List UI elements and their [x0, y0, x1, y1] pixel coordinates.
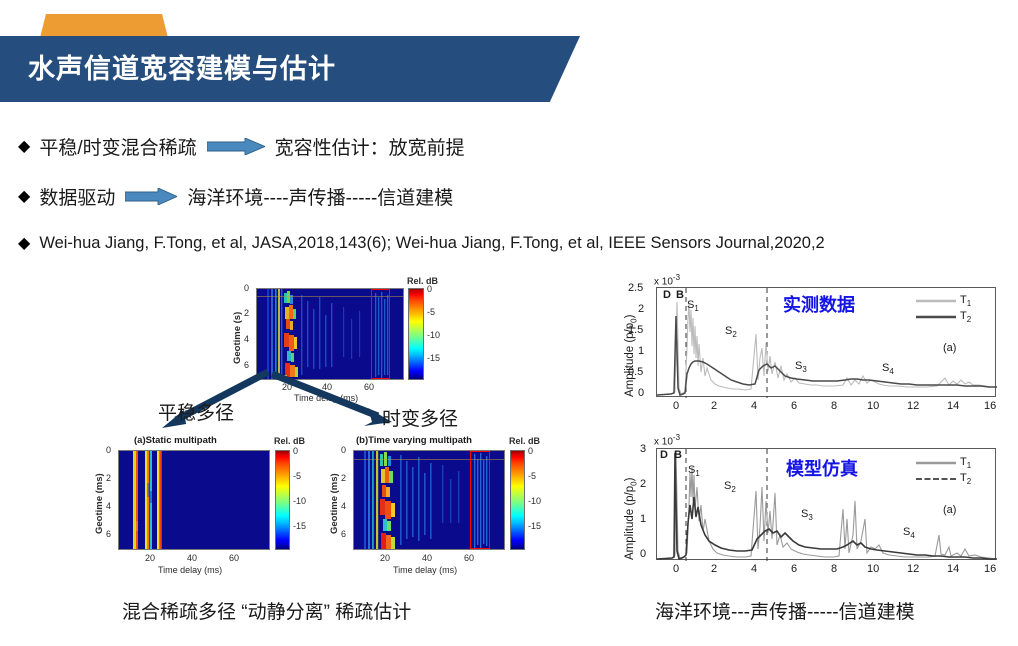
line-measured-ytick-1: 1 [638, 345, 644, 357]
heatmap-tv-xtick-60: 60 [464, 553, 474, 563]
bullet-diamond-icon: ◆ [18, 139, 30, 155]
figure-heatmap-static: (a)Static multipath [78, 434, 314, 584]
line-measured-panel-tag: (a) [943, 342, 956, 354]
heatmap-top-colorbar [408, 288, 424, 380]
line-measured-legend-T1: T1 [960, 294, 971, 308]
line-measured-ytick-2p5: 2.5 [628, 282, 643, 294]
line-measured-peak-D: D [663, 289, 671, 301]
heatmap-static-xtick-40: 40 [187, 553, 197, 563]
line-simulated-peak-S3: S3 [801, 508, 813, 522]
line-simulated-overlay-title: 模型仿真 [786, 455, 858, 481]
line-measured-xtick-2: 2 [711, 400, 717, 412]
line-measured-xtick-14: 14 [947, 400, 959, 412]
line-measured-xtick-0: 0 [673, 400, 679, 412]
heatmap-top-colorbar-title: Rel. dB [407, 276, 438, 286]
line-measured-xtick-12: 12 [907, 400, 919, 412]
caption-right: 海洋环境---声传播-----信道建模 [655, 597, 915, 624]
line-measured-xtick-6: 6 [791, 400, 797, 412]
heatmap-tv-yaxis-label: Geotime (ms) [329, 473, 340, 534]
heatmap-static-xaxis-label: Time delay (ms) [158, 565, 222, 575]
page-title: 水声信道宽容建模与估计 [28, 47, 336, 86]
line-measured-peak-S1: S1 [687, 299, 699, 313]
heatmap-static-cb-tick-10: -10 [293, 496, 306, 506]
heatmap-tv-highlight-box [470, 451, 490, 549]
label-static-multipath-cn: 平稳多径 [158, 398, 234, 425]
line-measured-xtick-10: 10 [867, 400, 879, 412]
heatmap-static-cb-tick-15: -15 [293, 521, 306, 531]
heatmap-static-cb-tick-0: 0 [293, 446, 298, 456]
heatmap-static-cb-tick-5: -5 [293, 471, 301, 481]
heatmap-tv-colorbar [510, 450, 525, 550]
heatmap-static-yaxis-label: Geotime (ms) [94, 473, 105, 534]
bullet-row-1: ◆ 平稳/时变混合稀疏 宽容性估计：放宽前提 [18, 133, 465, 160]
block-arrow-icon-1 [207, 138, 265, 155]
line-measured-peak-S4: S4 [882, 362, 894, 376]
figure-line-measured: x 10-3 Amplitude (p/p0) 2.5 2 1.5 1 0.5 … [618, 272, 1008, 424]
heatmap-top-cb-tick-0: 0 [427, 284, 432, 294]
heatmap-tv-cb-tick-10: -10 [528, 496, 541, 506]
line-simulated-panel-tag: (a) [943, 504, 956, 516]
line-simulated-peak-S1: S1 [688, 464, 700, 478]
heatmap-tv-colorbar-title: Rel. dB [509, 436, 540, 446]
block-arrow-icon-2 [125, 188, 177, 205]
line-simulated-xtick-4: 4 [751, 563, 757, 575]
line-measured-peak-S3: S3 [795, 360, 807, 374]
heatmap-top-ytick-4: 4 [244, 334, 249, 344]
heatmap-static-title: (a)Static multipath [134, 435, 217, 446]
line-measured-xtick-16: 16 [984, 400, 996, 412]
heatmap-static-colorbar [275, 450, 290, 550]
heatmap-tv-xaxis-label: Time delay (ms) [393, 565, 457, 575]
line-measured-ytick-0p5: 0.5 [628, 366, 643, 378]
line-simulated-xtick-8: 8 [831, 563, 837, 575]
line-simulated-legend-T2: T2 [960, 472, 971, 486]
heatmap-tv-cb-tick-0: 0 [528, 446, 533, 456]
line-measured-overlay-title: 实测数据 [783, 291, 855, 317]
figure-heatmap-timevarying: (b)Time varying multipath [313, 434, 553, 584]
line-simulated-exponent: x 10-3 [654, 433, 680, 447]
line-simulated-ytick-2: 2 [640, 478, 646, 490]
heatmap-top-cb-tick-10: -10 [427, 330, 440, 340]
line-simulated-ytick-3: 3 [640, 443, 646, 455]
line-simulated-xtick-0: 0 [673, 563, 679, 575]
heatmap-tv-ytick-6: 6 [341, 529, 346, 539]
line-simulated-peak-B: B [674, 449, 682, 461]
heatmap-top-cb-tick-15: -15 [427, 353, 440, 363]
heatmap-static-ytick-0: 0 [106, 445, 111, 455]
heatmap-tv-ytick-0: 0 [341, 445, 346, 455]
line-measured-peak-S2: S2 [725, 325, 737, 339]
heatmap-static-ytick-6: 6 [106, 529, 111, 539]
heatmap-tv-ytick-4: 4 [341, 501, 346, 511]
heatmap-top-yaxis-label: Geotime (s) [232, 312, 243, 364]
line-simulated-legend-T1: T1 [960, 456, 971, 470]
heatmap-tv-xtick-20: 20 [380, 553, 390, 563]
heatmap-tv-cb-tick-15: -15 [528, 521, 541, 531]
heatmap-top-ytick-2: 2 [244, 308, 249, 318]
bullet-1-text-before: 平稳/时变混合稀疏 [39, 133, 196, 160]
line-simulated-xtick-6: 6 [791, 563, 797, 575]
bullet-3-reference-text: Wei-hua Jiang, F.Tong, et al, JASA,2018,… [39, 234, 824, 253]
line-simulated-ytick-1: 1 [640, 513, 646, 525]
heatmap-top-ytick-0: 0 [244, 283, 249, 293]
line-measured-exponent: x 10-3 [654, 273, 680, 287]
figure-line-simulated: x 10-3 Amplitude (p/p0) 3 2 1 0 0 2 4 6 … [618, 432, 1008, 587]
line-measured-legend-T2: T2 [960, 310, 971, 324]
bullet-1-text-after: 宽容性估计：放宽前提 [275, 133, 465, 160]
heatmap-static-xtick-60: 60 [229, 553, 239, 563]
line-simulated-ytick-0: 0 [640, 548, 646, 560]
line-measured-ytick-2: 2 [638, 303, 644, 315]
line-simulated-yaxis-label: Amplitude (p/p0) [624, 478, 638, 560]
bullet-row-2: ◆ 数据驱动 海洋环境----声传播-----信道建模 [18, 183, 453, 210]
line-simulated-xtick-2: 2 [711, 563, 717, 575]
heatmap-top-highlight-box [371, 289, 390, 379]
line-measured-xtick-8: 8 [831, 400, 837, 412]
heatmap-tv-cb-tick-5: -5 [528, 471, 536, 481]
heatmap-static-axes [118, 450, 270, 550]
heatmap-tv-title: (b)Time varying multipath [356, 435, 472, 446]
label-timevarying-multipath-cn: 时变多径 [382, 404, 458, 431]
line-simulated-peak-S2: S2 [724, 480, 736, 494]
bullet-2-text-after: 海洋环境----声传播-----信道建模 [187, 183, 453, 210]
heatmap-static-xtick-20: 20 [145, 553, 155, 563]
line-simulated-xtick-10: 10 [867, 563, 879, 575]
bullet-row-3: ◆ Wei-hua Jiang, F.Tong, et al, JASA,201… [18, 234, 825, 253]
bullet-diamond-icon: ◆ [18, 189, 30, 205]
line-simulated-peak-S4: S4 [903, 526, 915, 540]
line-measured-peak-B: B [676, 289, 684, 301]
line-measured-ytick-1p5: 1.5 [628, 324, 643, 336]
heatmap-tv-xtick-40: 40 [422, 553, 432, 563]
line-simulated-peak-D: D [660, 449, 668, 461]
line-simulated-xtick-14: 14 [947, 563, 959, 575]
line-simulated-xtick-16: 16 [984, 563, 996, 575]
heatmap-static-ytick-2: 2 [106, 473, 111, 483]
line-measured-ytick-0: 0 [638, 387, 644, 399]
heatmap-static-ytick-4: 4 [106, 501, 111, 511]
bullet-2-text-before: 数据驱动 [39, 183, 115, 210]
heatmap-tv-ytick-2: 2 [341, 473, 346, 483]
heatmap-static-colorbar-title: Rel. dB [274, 436, 305, 446]
slide-root: 水声信道宽容建模与估计 ◆ 平稳/时变混合稀疏 宽容性估计：放宽前提 ◆ 数据驱… [0, 0, 1018, 646]
line-measured-xtick-4: 4 [751, 400, 757, 412]
line-simulated-xtick-12: 12 [907, 563, 919, 575]
bullet-diamond-icon: ◆ [18, 236, 30, 252]
caption-left: 混合稀疏多径 “动静分离” 稀疏估计 [122, 597, 411, 624]
heatmap-top-cb-tick-5: -5 [427, 307, 435, 317]
